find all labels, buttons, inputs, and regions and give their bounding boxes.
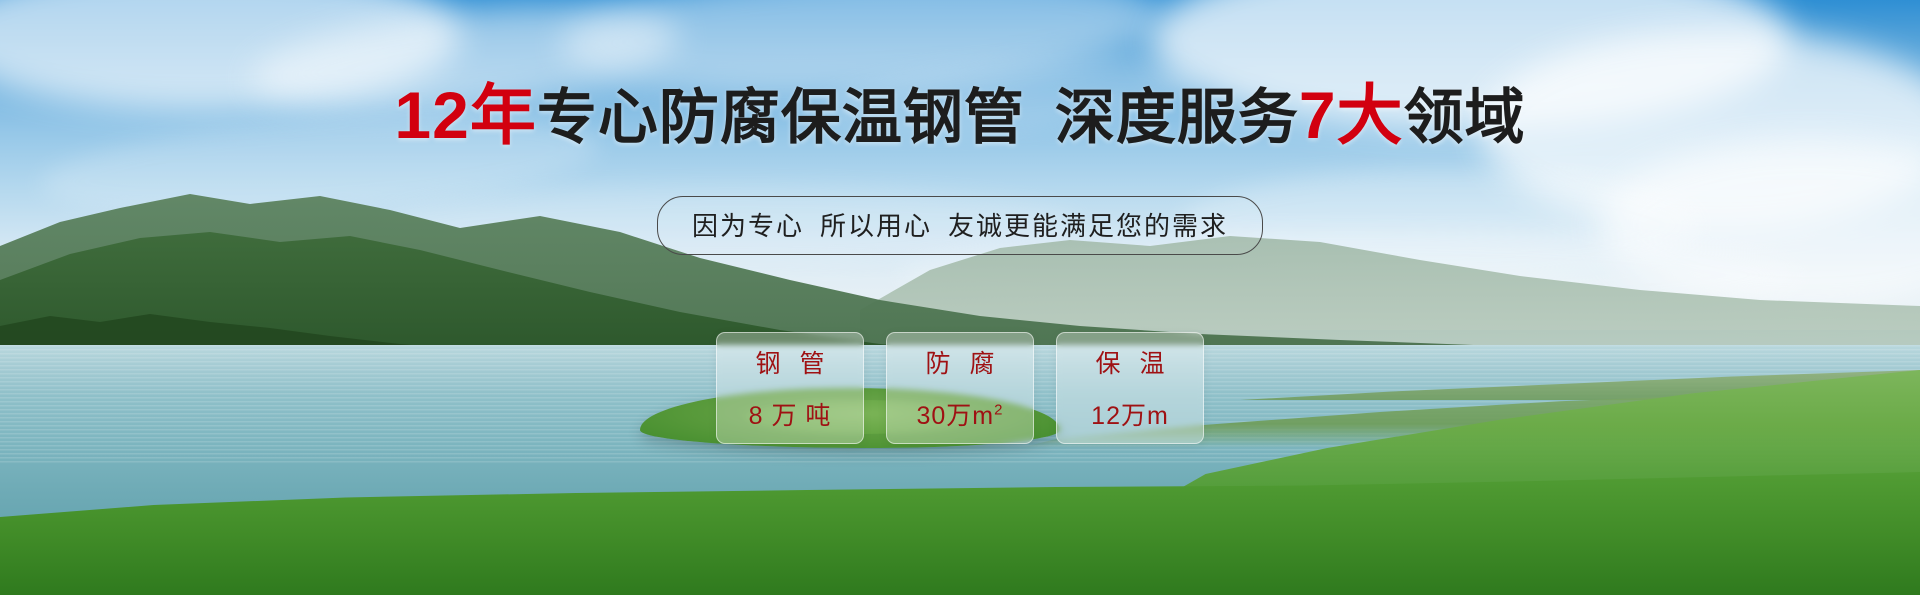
stat-card-label: 钢 管	[750, 344, 831, 380]
subtitle-part-2: 所以用心	[820, 211, 932, 241]
headline-main-text: 专心防腐保温钢管	[537, 84, 1025, 151]
stat-card-label: 防 腐	[920, 344, 1001, 380]
subtitle-pill: 因为专心所以用心友诚更能满足您的需求	[657, 196, 1263, 255]
headline-seven-red: 7大	[1299, 78, 1404, 152]
stat-card-value-sup: 2	[994, 402, 1003, 419]
promo-banner: 12年专心防腐保温钢管深度服务7大领域 因为专心所以用心友诚更能满足您的需求 钢…	[0, 0, 1920, 595]
stat-card-value: 8 万 吨	[749, 396, 832, 432]
banner-content: 12年专心防腐保温钢管深度服务7大领域 因为专心所以用心友诚更能满足您的需求 钢…	[0, 0, 1920, 595]
stat-card-value-text: 12万m	[1091, 402, 1169, 430]
stats-card-group: 钢 管 8 万 吨 防 腐 30万m2 保 温 12万m	[0, 332, 1920, 444]
subtitle-part-3: 友诚更能满足您的需求	[948, 211, 1228, 241]
stat-card-value: 30万m2	[917, 396, 1004, 432]
stat-card-insulation: 保 温 12万m	[1056, 332, 1204, 444]
subtitle-container: 因为专心所以用心友诚更能满足您的需求	[0, 196, 1920, 255]
headline-years-red: 12年	[394, 78, 536, 152]
stat-card-value: 12万m	[1091, 396, 1169, 432]
headline-fields-text: 领域	[1404, 84, 1526, 151]
stat-card-anticorrosion: 防 腐 30万m2	[886, 332, 1034, 444]
stat-card-value-text: 30万m	[917, 402, 995, 430]
headline-service-text: 深度服务	[1055, 84, 1299, 151]
stat-card-steel-pipe: 钢 管 8 万 吨	[716, 332, 864, 444]
headline: 12年专心防腐保温钢管深度服务7大领域	[0, 82, 1920, 148]
stat-card-value-text: 8 万 吨	[749, 402, 832, 430]
subtitle-part-1: 因为专心	[692, 211, 804, 241]
stat-card-label: 保 温	[1090, 344, 1171, 380]
